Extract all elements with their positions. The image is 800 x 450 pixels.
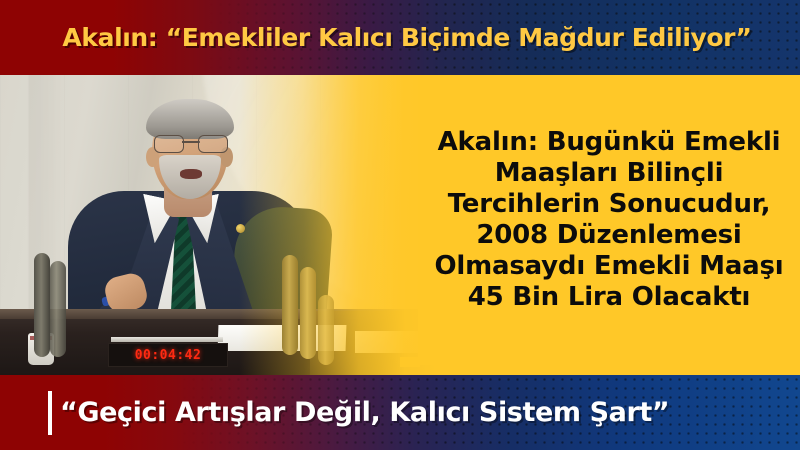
header-title: Akalın: “Emekliler Kalıcı Biçimde Mağdur… [0,0,800,75]
header-banner: Akalın: “Emekliler Kalıcı Biçimde Mağdur… [0,0,800,75]
quote-panel: Akalın: Bugünkü Emekli Maaşları Bilinçli… [418,75,800,365]
footer-title: “Geçici Artışlar Değil, Kalıcı Sistem Şa… [60,397,669,428]
quote-panel-step [400,357,420,367]
speaker-photo: 00:04:42 [0,75,460,375]
footer-content: “Geçici Artışlar Değil, Kalıcı Sistem Şa… [0,375,800,450]
news-graphic-canvas: 00:04:42 Akalın: Bugünkü Emekli Maaşları… [0,0,800,450]
footer-banner: “Geçici Artışlar Değil, Kalıcı Sistem Şa… [0,375,800,450]
footer-accent-bar [48,391,52,435]
photo-to-panel-fade [0,75,460,375]
quote-text: Akalın: Bugünkü Emekli Maaşları Bilinçli… [435,127,784,313]
